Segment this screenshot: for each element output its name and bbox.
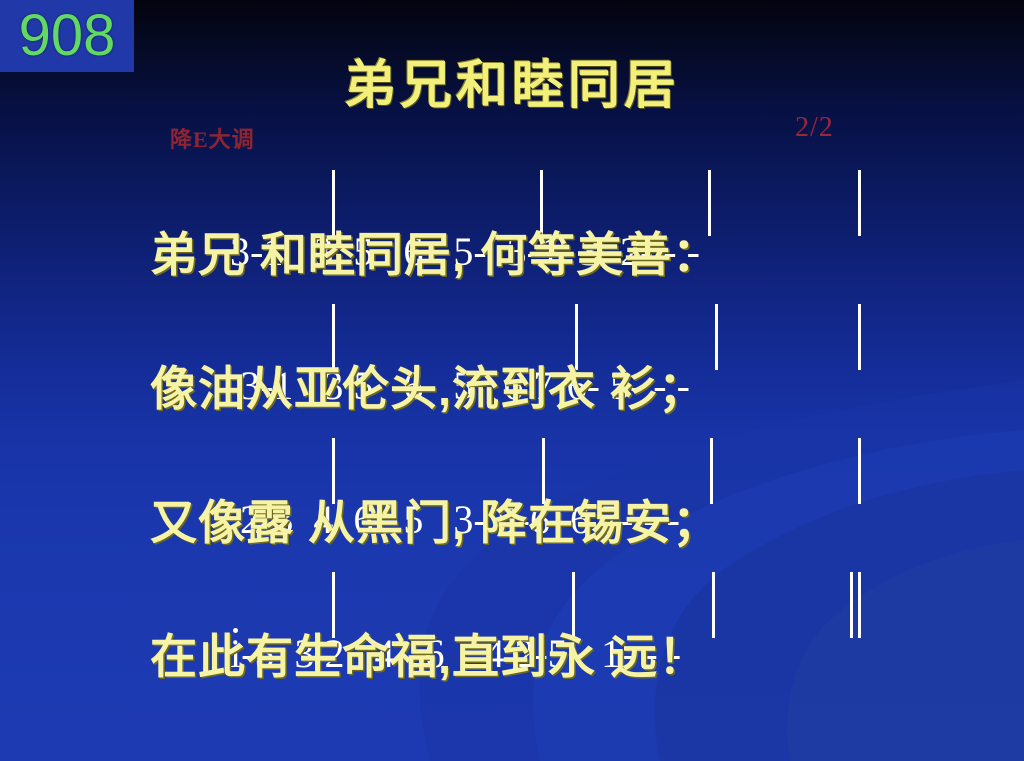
- key-signature-label: 降E大调: [170, 128, 255, 152]
- music-system: 3-1 3 5 6 5- 3-1 3 2- - - 弟兄 和睦同居, 何等美善：: [150, 168, 890, 302]
- lyric-line: 在此有生命福,直到永 远！: [150, 626, 890, 688]
- page-indicator: 2/2: [795, 113, 834, 143]
- music-system: i-5 3 2 4 6 4 2-5- 1- - - 在此有生命福,直到永 远！: [150, 570, 890, 704]
- music-system: 3-1 3 5 6 5 6 7-6- 5- - - 像油从亚伦头,流到衣 衫；: [150, 302, 890, 436]
- lyric-line: 弟兄 和睦同居, 何等美善：: [150, 224, 890, 286]
- lyric-line: 又像露 从黑门, 降在锡安；: [150, 492, 890, 554]
- notation-row: i-5 3 2 4 6 4 2-5- 1- - -: [150, 570, 890, 626]
- music-system: 2-3 4 6 5 3- 5-6 6 7- - - 又像露 从黑门, 降在锡安；: [150, 436, 890, 570]
- notation-row: 3-1 3 5 6 5- 3-1 3 2- - -: [150, 168, 890, 224]
- jianpu-staff: 3-1 3 5 6 5- 3-1 3 2- - - 弟兄 和睦同居, 何等美善：…: [150, 168, 890, 704]
- notation-row: 2-3 4 6 5 3- 5-6 6 7- - -: [150, 436, 890, 492]
- lyric-line: 像油从亚伦头,流到衣 衫；: [150, 358, 890, 420]
- slide-canvas: 908 弟兄和睦同居 降E大调 2/2 3-1 3 5 6 5- 3-1 3 2…: [0, 0, 1024, 761]
- notation-row: 3-1 3 5 6 5 6 7-6- 5- - -: [150, 302, 890, 358]
- page-title: 弟兄和睦同居: [0, 56, 1024, 116]
